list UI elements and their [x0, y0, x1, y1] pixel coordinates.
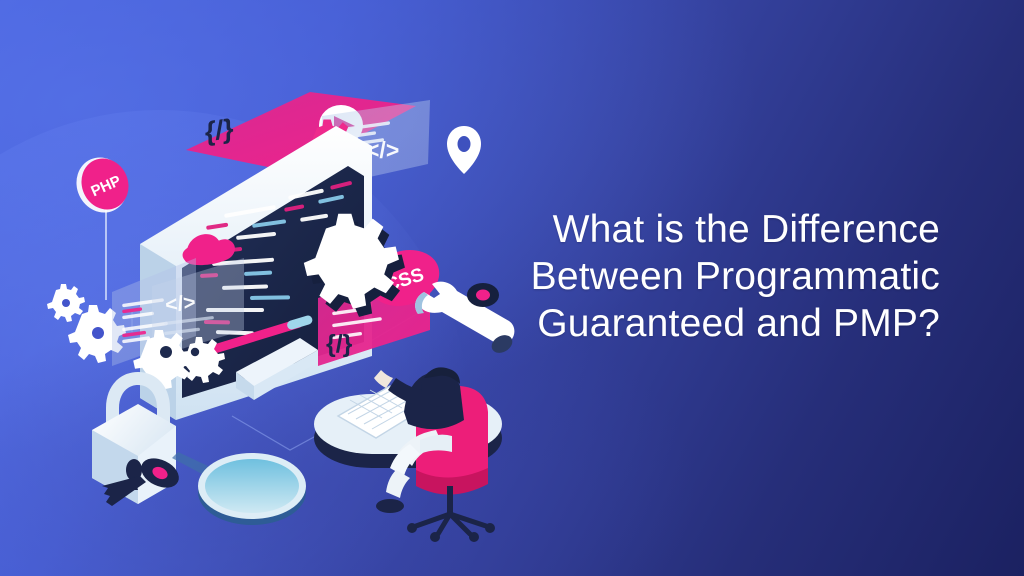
- page-title-line-1: What is the Difference: [520, 206, 940, 253]
- web-development-illustration: PHP {/} </>: [0, 0, 560, 576]
- page-title-line-2: Between Programmatic: [520, 253, 940, 300]
- angle-slash-overlay-label: </>: [164, 291, 197, 317]
- page-title-line-3: Guaranteed and PMP?: [520, 300, 940, 347]
- curly-slash-card-bottom-label: {/}: [326, 330, 353, 358]
- php-badge: PHP: [68, 149, 137, 300]
- banner: PHP {/} </>: [0, 0, 1024, 576]
- page-title: What is the Difference Between Programma…: [520, 206, 940, 347]
- curly-slash-card-top-label: {/}: [205, 112, 234, 147]
- magnifying-glass-icon: [172, 452, 306, 525]
- location-pin-icon: [447, 126, 481, 174]
- gear-icon-small-left: [47, 284, 85, 322]
